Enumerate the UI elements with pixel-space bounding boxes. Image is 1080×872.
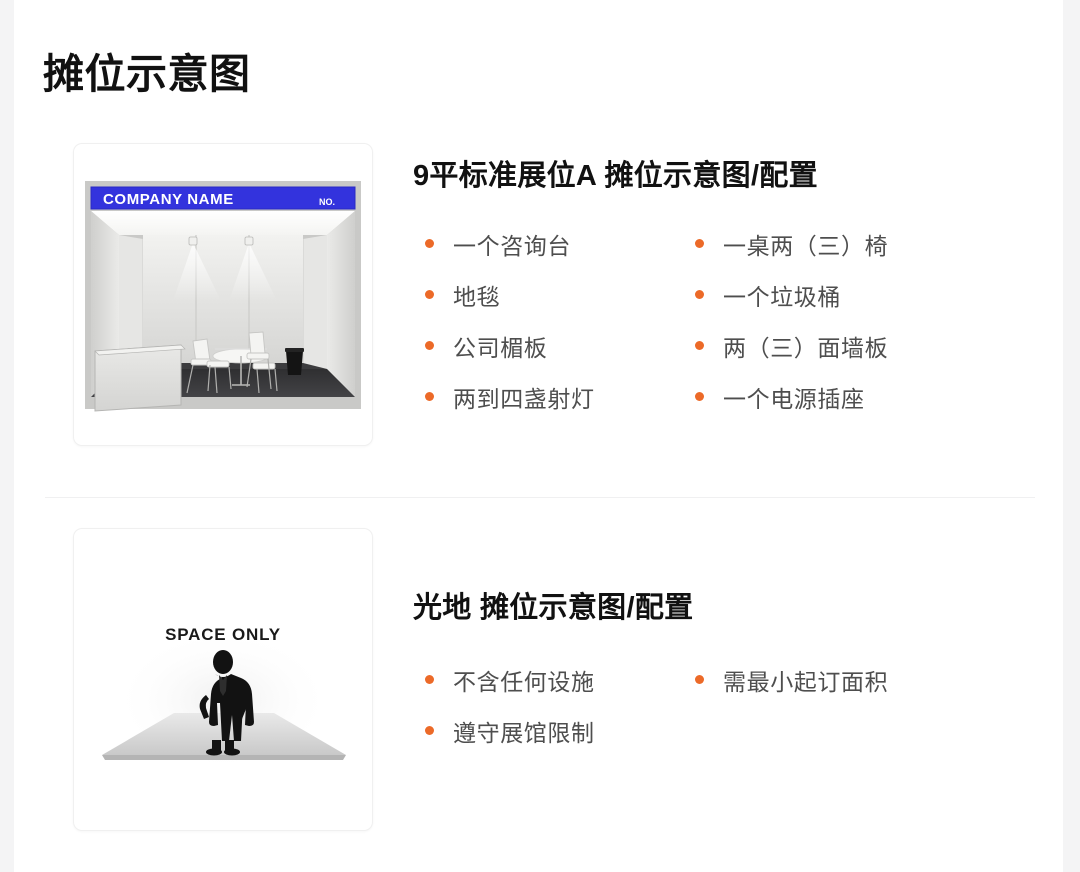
raw-space-content: 光地 摊位示意图/配置 不含任何设施 需最小起订面积 遵守展馆限制 [373, 528, 1063, 756]
section-divider [45, 497, 1035, 498]
feature-item: 一个电源插座 [695, 371, 965, 422]
feature-item: 两（三）面墙板 [695, 320, 965, 371]
feature-item: 一桌两（三）椅 [695, 218, 965, 269]
booth-thumbnail-inner: COMPANY NAME NO. [74, 144, 372, 445]
feature-label: 需最小起订面积 [723, 663, 888, 697]
feature-label: 遵守展馆限制 [453, 714, 595, 748]
bullet-dot-icon [425, 239, 434, 248]
feature-label: 一个电源插座 [723, 380, 865, 414]
bullet-dot-icon [695, 290, 704, 299]
feature-label: 不含任何设施 [453, 663, 595, 697]
feature-item: 地毯 [425, 269, 695, 320]
feature-item: 不含任何设施 [425, 654, 695, 705]
bullet-dot-icon [695, 392, 704, 401]
feature-label: 一桌两（三）椅 [723, 227, 888, 261]
section-heading-raw-space: 光地 摊位示意图/配置 [413, 584, 1063, 626]
fascia-number: NO. [319, 197, 335, 207]
content-sheet: 摊位示意图 [14, 0, 1063, 872]
feature-item: 一个垃圾桶 [695, 269, 965, 320]
space-thumbnail-card[interactable]: SPACE ONLY [73, 528, 373, 831]
feature-list-raw-space: 不含任何设施 需最小起订面积 遵守展馆限制 [413, 654, 1063, 756]
feature-item: 遵守展馆限制 [425, 705, 695, 756]
bullet-dot-icon [425, 675, 434, 684]
feature-label: 两到四盏射灯 [453, 380, 595, 414]
feature-label: 地毯 [453, 278, 500, 312]
feature-item: 公司楣板 [425, 320, 695, 371]
feature-item: 两到四盏射灯 [425, 371, 695, 422]
feature-list-standard-booth-a: 一个咨询台 一桌两（三）椅 地毯 一个垃圾桶 [413, 218, 1063, 422]
fascia-company-name: COMPANY NAME [103, 191, 234, 208]
space-only-diagram-icon: SPACE ONLY [78, 535, 368, 825]
bullet-dot-icon [425, 392, 434, 401]
bullet-dot-icon [425, 341, 434, 350]
feature-label: 两（三）面墙板 [723, 329, 888, 363]
page-root: 摊位示意图 [0, 0, 1080, 872]
feature-item: 需最小起订面积 [695, 654, 965, 705]
bullet-dot-icon [425, 726, 434, 735]
bullet-dot-icon [695, 341, 704, 350]
section-standard-booth-a: COMPANY NAME NO. 9平标准展位A 摊位示意图/配置 一个咨询台 … [14, 143, 1063, 446]
bullet-dot-icon [695, 239, 704, 248]
booth-thumbnail-card[interactable]: COMPANY NAME NO. [73, 143, 373, 446]
space-thumbnail-inner: SPACE ONLY [74, 529, 372, 830]
feature-label: 一个垃圾桶 [723, 278, 841, 312]
section-raw-space: SPACE ONLY [14, 528, 1063, 831]
section-heading-standard-booth-a: 9平标准展位A 摊位示意图/配置 [413, 152, 1063, 194]
feature-label: 一个咨询台 [453, 227, 571, 261]
booth-a-content: 9平标准展位A 摊位示意图/配置 一个咨询台 一桌两（三）椅 地毯 [373, 143, 1063, 422]
bullet-dot-icon [425, 290, 434, 299]
feature-label: 公司楣板 [453, 329, 547, 363]
booth-diagram-icon: COMPANY NAME NO. [81, 173, 365, 416]
feature-item: 一个咨询台 [425, 218, 695, 269]
space-only-caption: SPACE ONLY [165, 625, 281, 644]
bullet-dot-icon [695, 675, 704, 684]
page-title: 摊位示意图 [43, 50, 251, 98]
